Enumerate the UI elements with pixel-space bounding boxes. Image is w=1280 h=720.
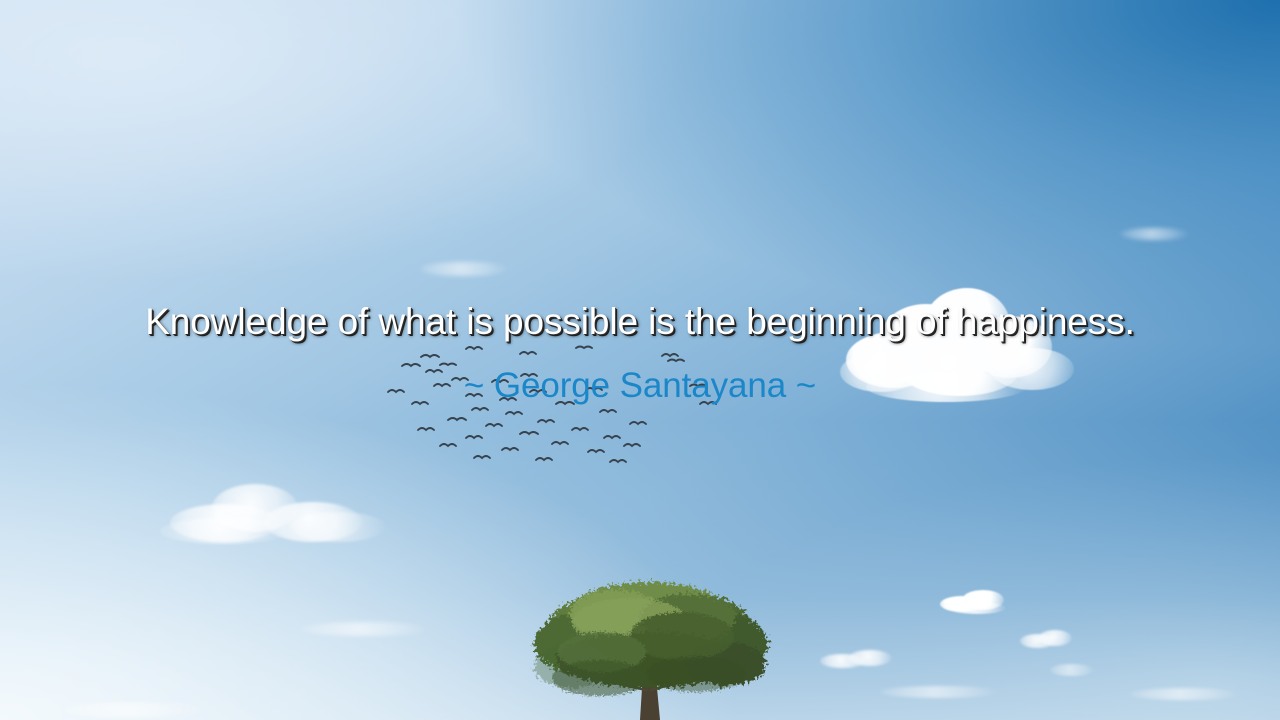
quote-image: Knowledge of what is possible is the beg…	[0, 0, 1280, 720]
quote-block: Knowledge of what is possible is the beg…	[0, 300, 1280, 406]
quote-text: Knowledge of what is possible is the beg…	[0, 300, 1280, 344]
oak-tree	[520, 578, 780, 720]
quote-author: ~ George Santayana ~	[0, 366, 1280, 406]
